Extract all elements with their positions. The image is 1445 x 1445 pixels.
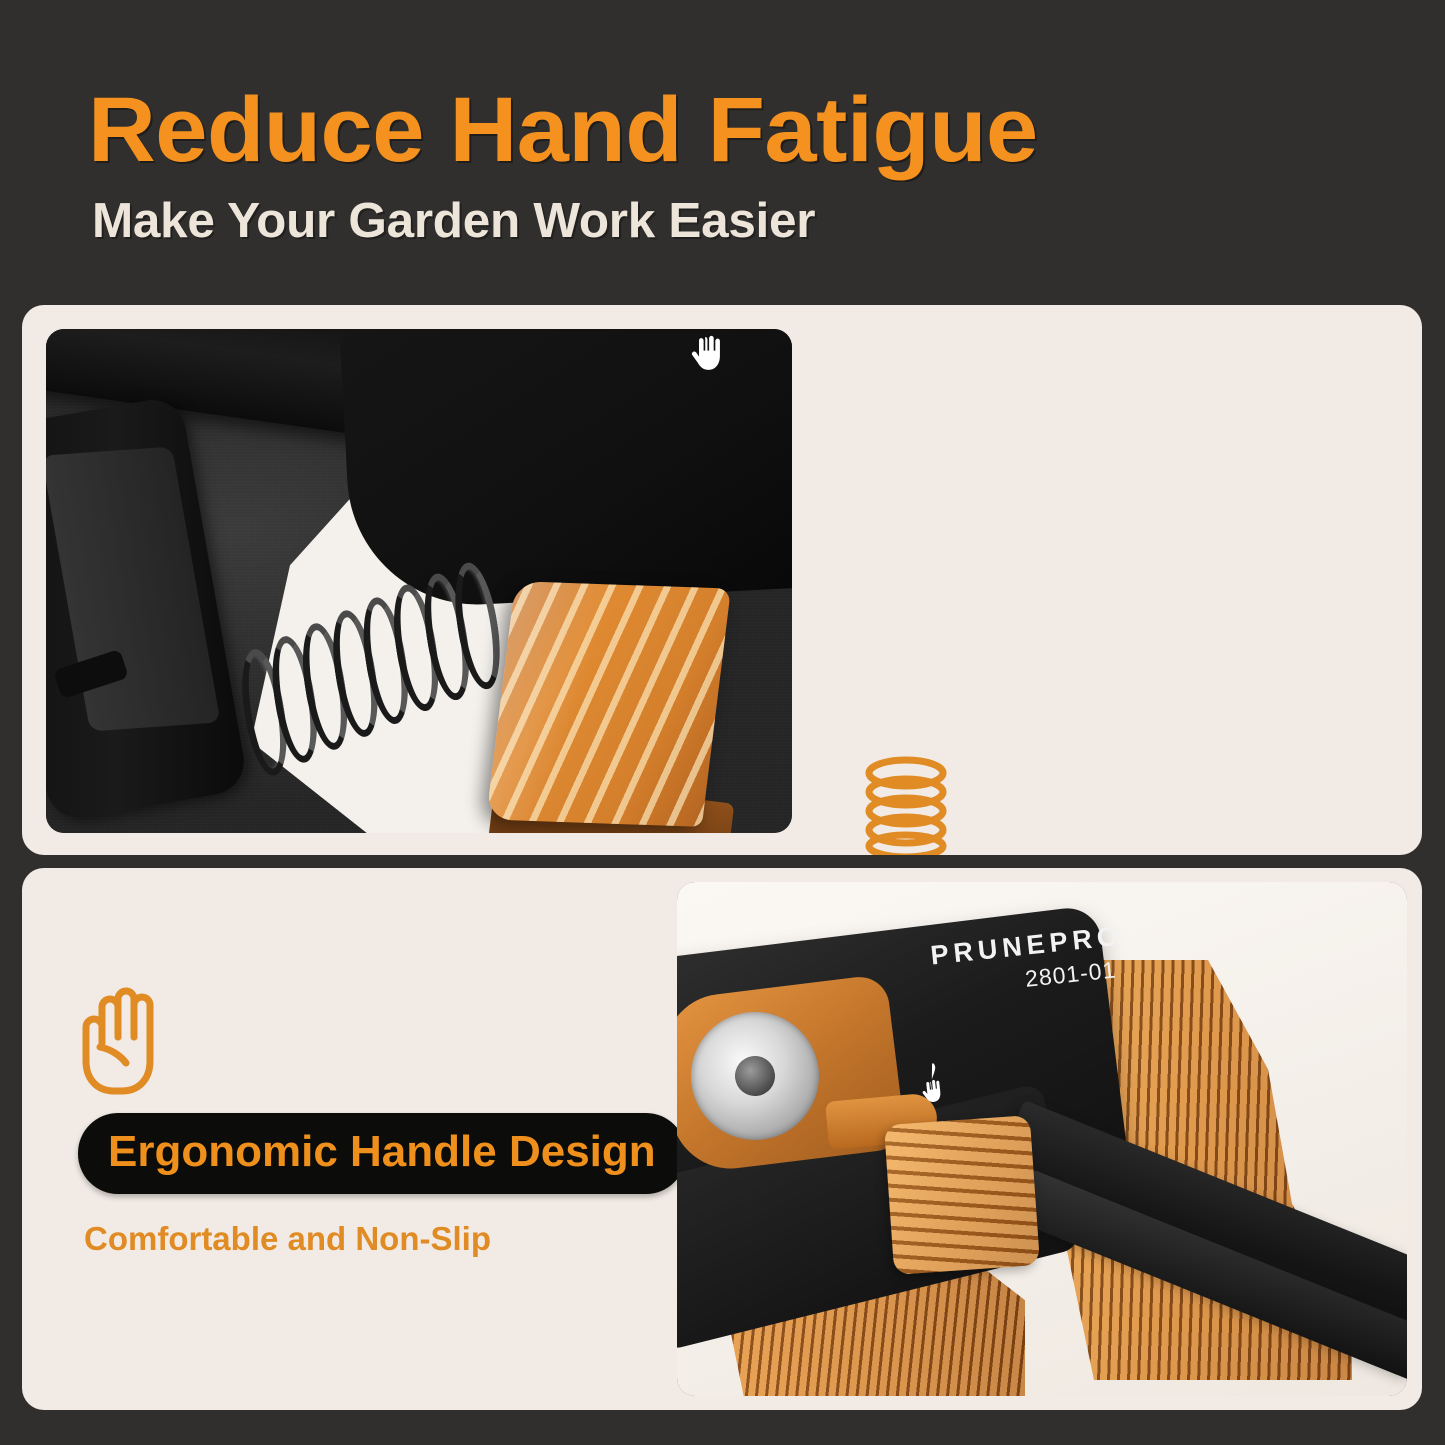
product-photo-spring: [46, 329, 792, 833]
header-section: Reduce Hand Fatigue Make Your Garden Wor…: [0, 0, 1445, 290]
orange-grip-pad: [486, 581, 731, 827]
page-subtitle: Make Your Garden Work Easier: [92, 193, 815, 249]
feature-panel-handle: Ergonomic Handle Design Comfortable and …: [22, 868, 1422, 1410]
page-title: Reduce Hand Fatigue: [88, 78, 1038, 183]
hand-cursor-icon: [913, 1060, 952, 1109]
open-palm-hand-icon: [78, 985, 173, 1097]
orange-thumb-pad: [884, 1115, 1040, 1275]
subtext-comfortable-non-slip: Comfortable and Non-Slip: [84, 1220, 658, 1258]
hand-cursor-icon: [686, 333, 730, 377]
feature-block-handle: Ergonomic Handle Design Comfortable and …: [78, 985, 658, 1258]
coil-spring-icon: [860, 753, 952, 855]
product-photo-handle: PRUNEPRO 2801-01: [677, 882, 1407, 1396]
feature-panel-spring: High Strength Spring Excellent Rebound P…: [22, 305, 1422, 855]
badge-ergonomic-handle-design: Ergonomic Handle Design: [78, 1113, 686, 1194]
feature-block-spring: High Strength Spring Excellent Rebound P…: [860, 753, 1380, 855]
